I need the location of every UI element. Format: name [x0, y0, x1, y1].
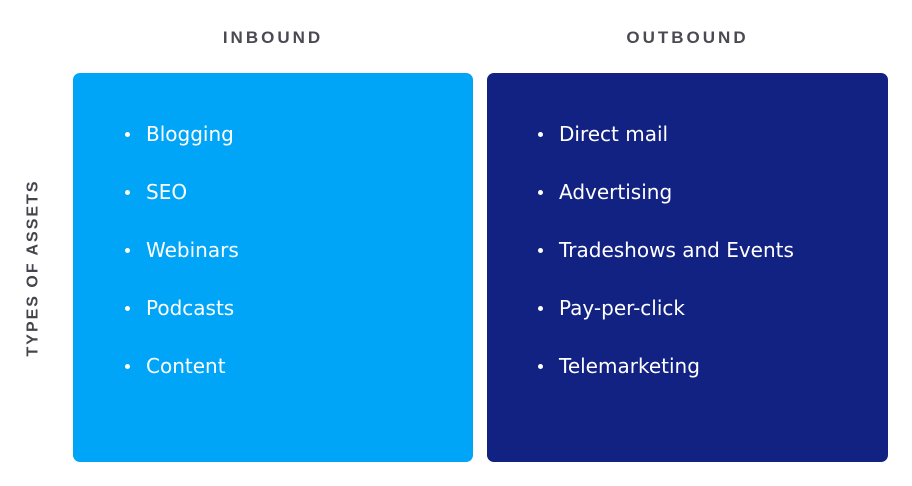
- bullet-icon: [538, 364, 543, 369]
- list-item: Blogging: [125, 121, 239, 179]
- comparison-diagram: TYPES OF ASSETS INBOUND OUTBOUND Bloggin…: [0, 0, 912, 486]
- list-item-label: Content: [146, 354, 226, 378]
- bullet-icon: [125, 190, 130, 195]
- bullet-icon: [125, 248, 130, 253]
- bullet-icon: [538, 306, 543, 311]
- list-item-label: Advertising: [559, 180, 672, 204]
- list-item-label: Pay-per-click: [559, 296, 685, 320]
- axis-label-text: TYPES OF ASSETS: [24, 179, 42, 356]
- panel-inbound: Blogging SEO Webinars Podcasts Content: [73, 73, 473, 462]
- list-item: Podcasts: [125, 295, 239, 353]
- list-item: Content: [125, 353, 239, 411]
- list-item: Webinars: [125, 237, 239, 295]
- list-item-label: Tradeshows and Events: [559, 238, 794, 262]
- bullet-icon: [538, 132, 543, 137]
- list-item: Advertising: [538, 179, 794, 237]
- axis-label-types-of-assets: TYPES OF ASSETS: [0, 73, 66, 462]
- list-item-label: Telemarketing: [559, 354, 700, 378]
- column-header-outbound: OUTBOUND: [487, 26, 888, 50]
- list-item: SEO: [125, 179, 239, 237]
- panel-outbound: Direct mail Advertising Tradeshows and E…: [487, 73, 888, 462]
- list-item-label: Podcasts: [146, 296, 234, 320]
- column-header-inbound: INBOUND: [73, 26, 473, 50]
- list-item-label: Direct mail: [559, 122, 668, 146]
- bullet-icon: [125, 364, 130, 369]
- list-item-label: Blogging: [146, 122, 234, 146]
- bullet-icon: [125, 306, 130, 311]
- list-item: Telemarketing: [538, 353, 794, 411]
- list-item: Pay-per-click: [538, 295, 794, 353]
- bullet-icon: [538, 190, 543, 195]
- asset-list-inbound: Blogging SEO Webinars Podcasts Content: [125, 121, 239, 411]
- list-item-label: Webinars: [146, 238, 239, 262]
- bullet-icon: [538, 248, 543, 253]
- list-item-label: SEO: [146, 180, 187, 204]
- list-item: Direct mail: [538, 121, 794, 179]
- list-item: Tradeshows and Events: [538, 237, 794, 295]
- bullet-icon: [125, 132, 130, 137]
- asset-list-outbound: Direct mail Advertising Tradeshows and E…: [538, 121, 794, 411]
